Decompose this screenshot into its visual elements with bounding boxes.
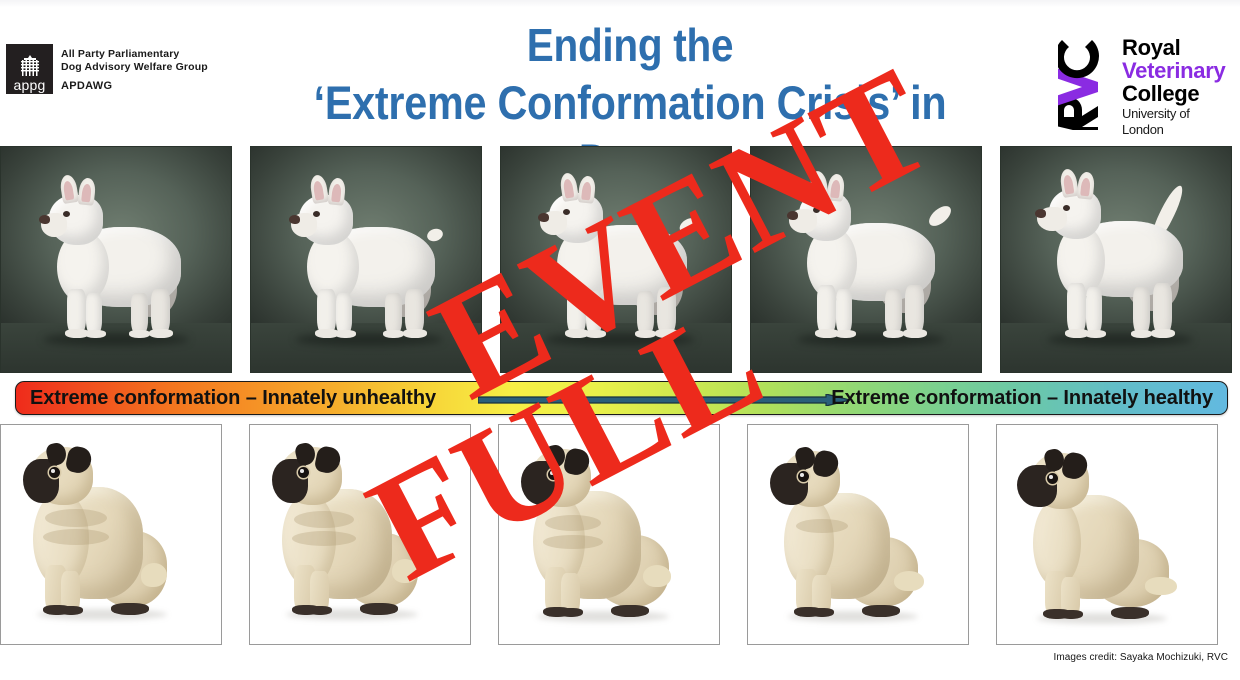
image-credit: Images credit: Sayaka Mochizuki, RVC [1054,652,1228,663]
photo-pug-2[interactable] [249,424,471,645]
pug-row [0,424,1240,645]
appg-mark-word: appg [14,78,46,92]
rvc-logo: Royal Veterinary College University of L… [1058,28,1234,132]
rvc-wordmark: Royal Veterinary College University of L… [1122,36,1234,138]
rvc-line-royal: Royal [1122,36,1234,59]
title-line-1: Ending the [296,16,965,74]
appg-logo-text: All Party Parliamentary Dog Advisory Wel… [61,44,208,93]
appg-logo-mark: appg [6,44,53,94]
spectrum-label-healthy: Extreme conformation – Innately healthy [831,385,1213,412]
slide-canvas: appg All Party Parliamentary Dog Advisor… [0,0,1240,680]
rvc-line-university: University of London [1122,106,1234,138]
french-bulldog-row [0,146,1240,373]
rvc-line-college: College [1122,82,1234,105]
appg-line1: All Party Parliamentary [61,48,208,61]
top-strip [0,0,1240,7]
spectrum-arrow-icon [478,393,850,405]
appg-line2: Dog Advisory Welfare Group [61,61,208,74]
photo-pug-4[interactable] [747,424,969,645]
photo-pug-5[interactable] [996,424,1218,645]
rvc-monogram-icon [1058,30,1118,130]
conformation-spectrum-bar: Extreme conformation – Innately unhealth… [15,381,1228,415]
photo-french-bulldog-5[interactable] [1000,146,1232,373]
photo-french-bulldog-2[interactable] [250,146,482,373]
photo-pug-3[interactable] [498,424,720,645]
appg-abbreviation: APDAWG [61,80,208,93]
rvc-line-veterinary: Veterinary [1122,59,1234,82]
photo-pug-1[interactable] [0,424,222,645]
spectrum-label-unhealthy: Extreme conformation – Innately unhealth… [30,385,436,412]
appg-logo: appg All Party Parliamentary Dog Advisor… [6,44,208,94]
photo-french-bulldog-3[interactable] [500,146,732,373]
portcullis-icon [20,55,40,77]
photo-french-bulldog-4[interactable] [750,146,982,373]
photo-french-bulldog-1[interactable] [0,146,232,373]
